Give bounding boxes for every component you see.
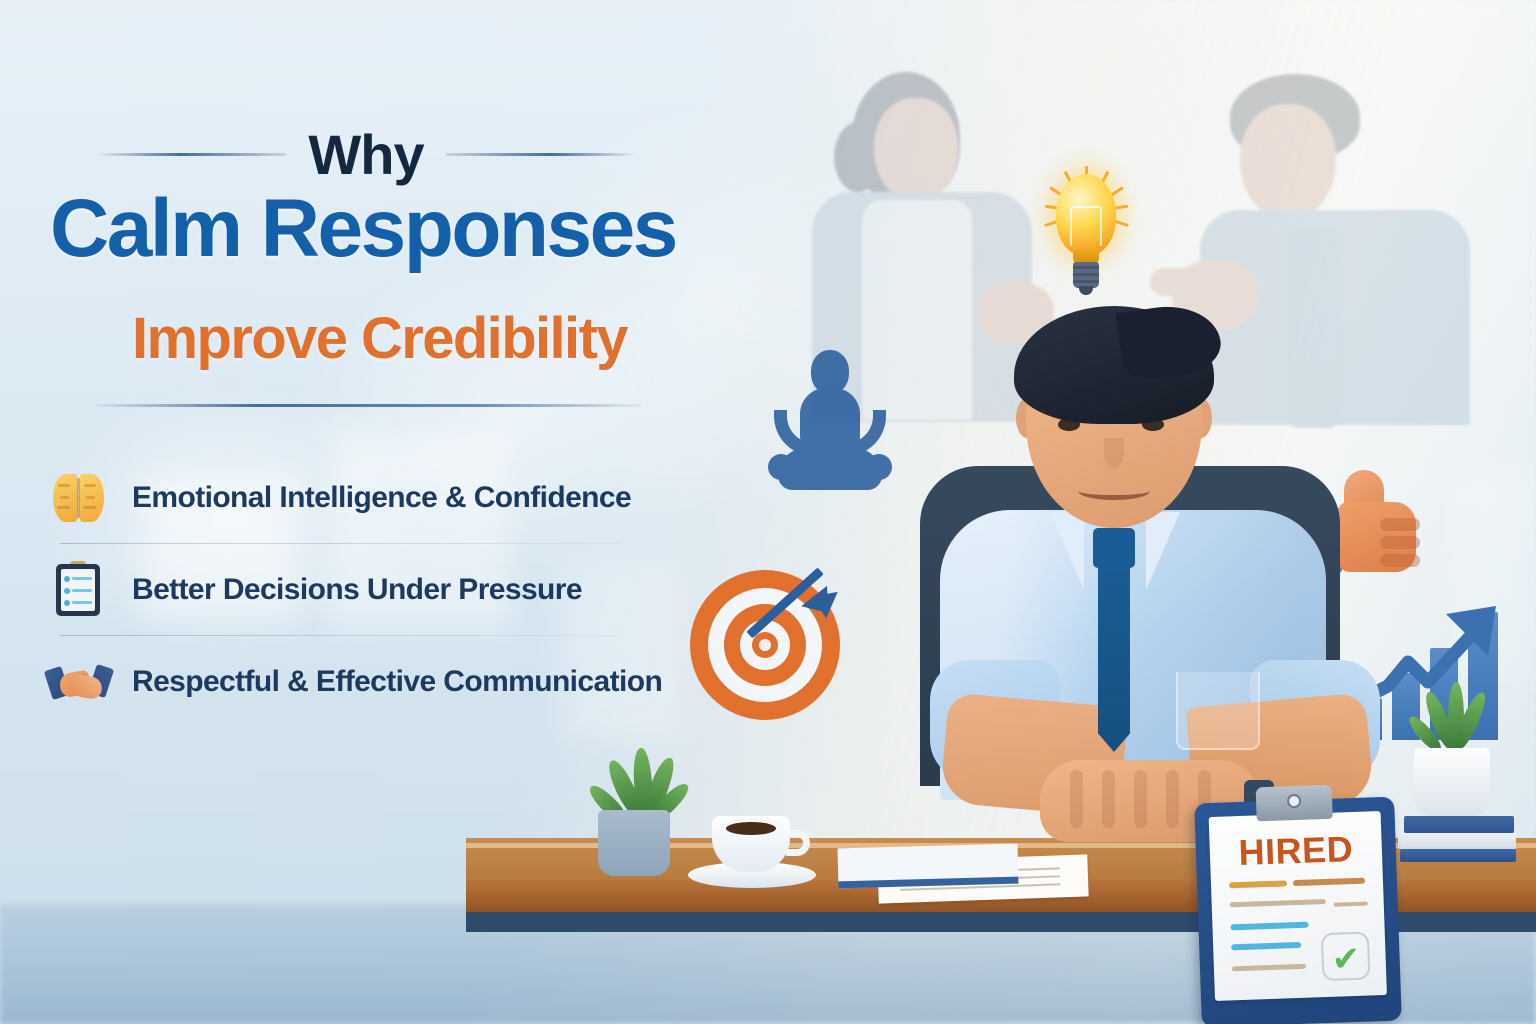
page-title: Calm Responses — [50, 188, 710, 270]
shirt-collar-left — [1050, 512, 1084, 590]
handshake-icon — [48, 654, 110, 710]
lotus-meditation-silhouette-icon — [770, 350, 890, 500]
smiling-mouth — [1078, 482, 1150, 500]
divider-right — [446, 153, 636, 156]
benefit-list: Emotional Intelligence & Confidence Bett… — [48, 452, 708, 728]
nose — [1104, 438, 1124, 468]
divider-left — [96, 153, 286, 156]
title-underline-divider — [96, 404, 641, 407]
list-item-label: Respectful & Effective Communication — [132, 665, 662, 699]
eyebrow-row: Why — [96, 122, 636, 186]
eyebrow-text: Why — [308, 122, 423, 187]
clipboard-checklist-icon — [48, 562, 110, 618]
lightbulb-icon — [1026, 150, 1146, 310]
list-item-label: Better Decisions Under Pressure — [132, 573, 582, 607]
text-panel: Why Calm Responses Improve Credibility — [0, 0, 720, 1024]
shirt-pocket — [1176, 672, 1260, 750]
list-item: Better Decisions Under Pressure — [48, 544, 708, 636]
checkmark-icon: ✔ — [1331, 942, 1361, 977]
list-item: Respectful & Effective Communication — [48, 636, 708, 728]
hired-clipboard[interactable]: HIRED ✔ — [1194, 797, 1402, 1024]
page-subtitle: Improve Credibility — [132, 310, 752, 368]
necktie-knot — [1093, 528, 1135, 568]
hired-label: HIRED — [1209, 827, 1382, 875]
infographic-canvas: HIRED ✔ Why Calm Responses Improve Credi… — [0, 0, 1536, 1024]
list-item: Emotional Intelligence & Confidence — [48, 452, 708, 544]
list-item-label: Emotional Intelligence & Confidence — [132, 481, 631, 515]
shirt-collar-right — [1146, 512, 1180, 590]
brain-icon — [48, 470, 110, 526]
necktie — [1098, 566, 1130, 752]
clipboard-paper: HIRED ✔ — [1209, 811, 1387, 1001]
